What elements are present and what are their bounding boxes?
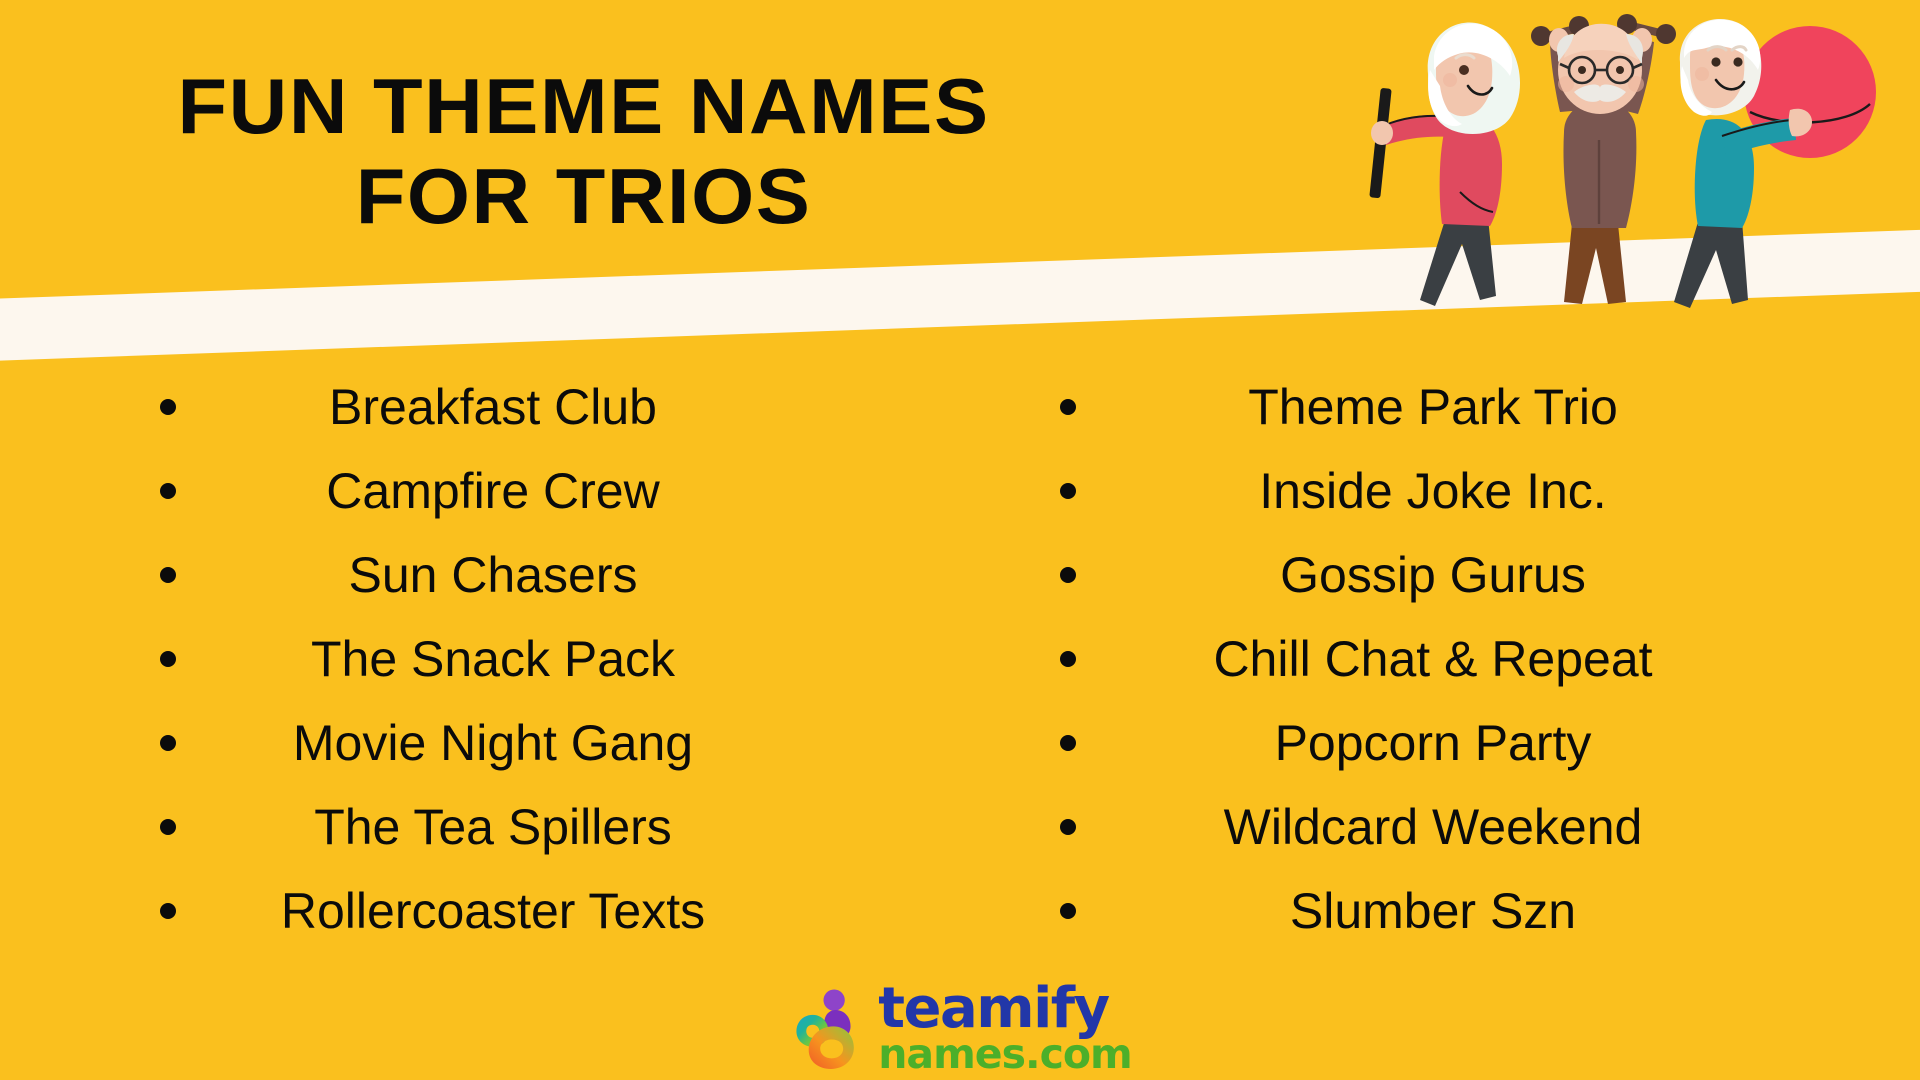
bullet-icon [1060, 567, 1076, 583]
logo-secondary-text: names.com [878, 1036, 1132, 1074]
list-item: Wildcard Weekend [960, 802, 1920, 886]
three-elderly-people-exercising-illustration [1350, 0, 1910, 320]
list-item: Theme Park Trio [960, 382, 1920, 466]
bullet-icon [1060, 819, 1076, 835]
bullet-icon [1060, 735, 1076, 751]
logo-primary-text: teamify [878, 983, 1132, 1035]
theme-name: Popcorn Party [1076, 718, 1790, 768]
theme-name: Theme Park Trio [1076, 382, 1790, 432]
bullet-icon [160, 399, 176, 415]
theme-name: Inside Joke Inc. [1076, 466, 1790, 516]
bullet-icon [160, 903, 176, 919]
figure-man-with-dumbbells [1531, 14, 1676, 304]
bullet-icon [1060, 651, 1076, 667]
poster-canvas: FUN THEME NAMES FOR TRIOS [0, 0, 1920, 1080]
page-title: FUN THEME NAMES FOR TRIOS [100, 62, 1067, 241]
bullet-icon [1060, 399, 1076, 415]
list-item: Inside Joke Inc. [960, 466, 1920, 550]
theme-name: Wildcard Weekend [1076, 802, 1790, 852]
theme-name: The Snack Pack [176, 634, 810, 684]
bullet-icon [1060, 483, 1076, 499]
list-item: Slumber Szn [960, 886, 1920, 970]
bullet-icon [160, 651, 176, 667]
bullet-icon [1060, 903, 1076, 919]
theme-name: Chill Chat & Repeat [1076, 634, 1790, 684]
left-name-column: Breakfast Club Campfire Crew Sun Chasers… [0, 382, 960, 972]
right-name-column: Theme Park Trio Inside Joke Inc. Gossip … [960, 382, 1920, 972]
logo-wordmark: teamify names.com [878, 983, 1132, 1074]
theme-name: Breakfast Club [176, 382, 810, 432]
figure-woman-with-stick [1369, 23, 1520, 306]
bullet-icon [160, 735, 176, 751]
theme-name: Movie Night Gang [176, 718, 810, 768]
left-name-list: Breakfast Club Campfire Crew Sun Chasers… [0, 382, 960, 970]
list-item: The Tea Spillers [0, 802, 960, 886]
list-item: Rollercoaster Texts [0, 886, 960, 970]
list-item: The Snack Pack [0, 634, 960, 718]
theme-name: Slumber Szn [1076, 886, 1790, 936]
theme-name: Sun Chasers [176, 550, 810, 600]
bullet-icon [160, 483, 176, 499]
figure-with-exercise-ball [1674, 19, 1876, 308]
bullet-icon [160, 819, 176, 835]
list-item: Movie Night Gang [0, 718, 960, 802]
theme-name: Campfire Crew [176, 466, 810, 516]
list-item: Popcorn Party [960, 718, 1920, 802]
list-item: Chill Chat & Repeat [960, 634, 1920, 718]
list-item: Sun Chasers [0, 550, 960, 634]
bullet-icon [160, 567, 176, 583]
list-item: Gossip Gurus [960, 550, 1920, 634]
theme-name: Gossip Gurus [1076, 550, 1790, 600]
teamify-logo-mark-icon [788, 987, 870, 1069]
list-item: Campfire Crew [0, 466, 960, 550]
theme-names-lists: Breakfast Club Campfire Crew Sun Chasers… [0, 382, 1920, 972]
right-name-list: Theme Park Trio Inside Joke Inc. Gossip … [960, 382, 1920, 970]
list-item: Breakfast Club [0, 382, 960, 466]
teamify-names-logo[interactable]: teamify names.com [788, 983, 1132, 1074]
theme-name: The Tea Spillers [176, 802, 810, 852]
theme-name: Rollercoaster Texts [176, 886, 810, 936]
page-title-block: FUN THEME NAMES FOR TRIOS [100, 62, 1100, 241]
